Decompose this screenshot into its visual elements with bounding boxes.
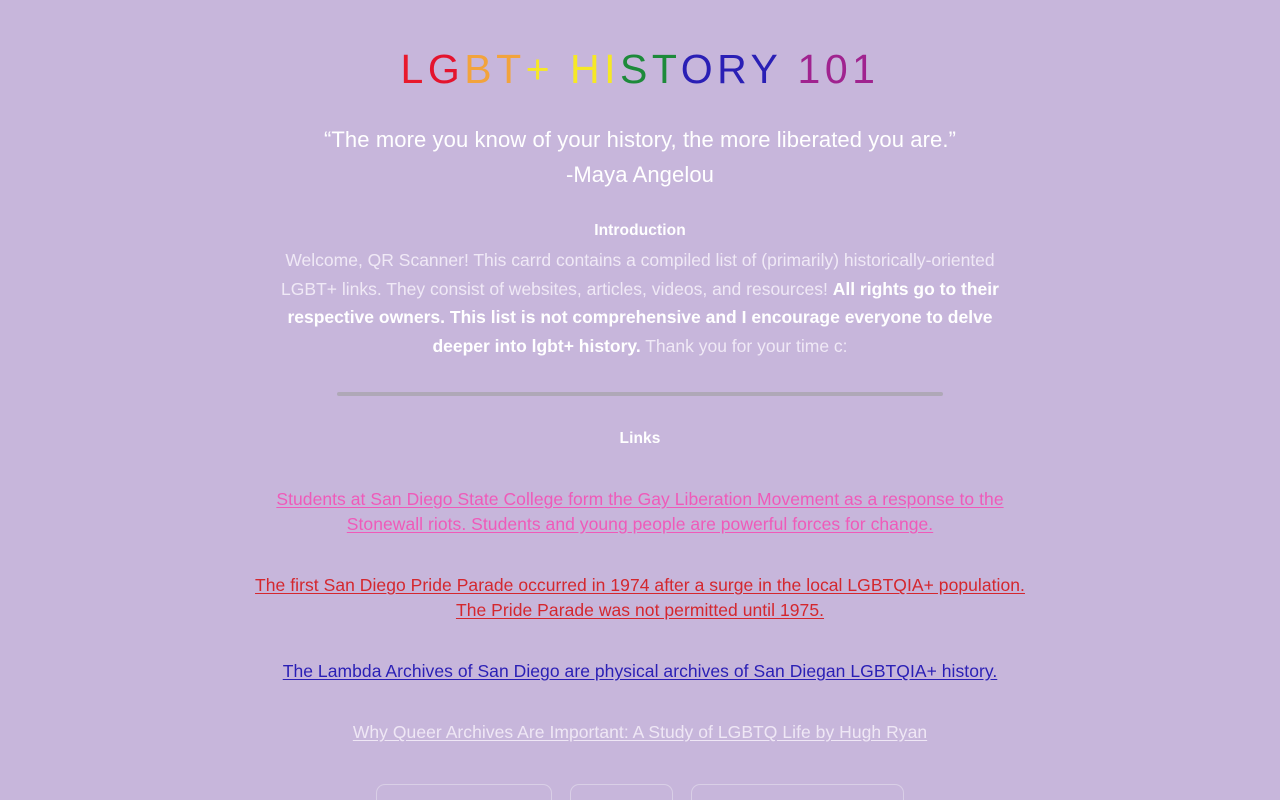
- introduction-paragraph: Welcome, QR Scanner! This carrd contains…: [260, 246, 1020, 360]
- links-heading: Links: [620, 430, 661, 448]
- hero-quote: “The more you know of your history, the …: [324, 122, 956, 192]
- title-letter-5: [554, 46, 570, 92]
- quote-attribution: -Maya Angelou: [324, 157, 956, 192]
- title-letter-13: [782, 46, 798, 92]
- title-letter-2: B: [464, 46, 496, 92]
- section-divider: [337, 392, 943, 396]
- title-letter-0: L: [401, 46, 428, 92]
- title-letter-6: H: [570, 46, 604, 92]
- title-letter-15: 0: [825, 46, 852, 92]
- quote-text: “The more you know of your history, the …: [324, 122, 956, 157]
- page-title: LGBT+ HISTORY 101: [401, 0, 880, 93]
- title-letter-10: O: [681, 46, 717, 92]
- title-letter-8: S: [620, 46, 652, 92]
- page-root: LGBT+ HISTORY 101 “The more you know of …: [0, 0, 1280, 800]
- bottom-card-3[interactable]: [691, 784, 904, 800]
- list-item: Why Queer Archives Are Important: A Stud…: [240, 720, 1040, 745]
- title-letter-3: T: [496, 46, 526, 92]
- title-letter-9: T: [652, 46, 681, 92]
- title-letter-1: G: [428, 46, 464, 92]
- list-item: Students at San Diego State College form…: [240, 487, 1040, 537]
- link-gay-liberation-movement[interactable]: Students at San Diego State College form…: [276, 489, 1003, 534]
- title-letter-16: 1: [852, 46, 879, 92]
- introduction-heading: Introduction: [594, 222, 686, 240]
- intro-part-2: Thank you for your time c:: [641, 336, 848, 356]
- title-letter-7: I: [604, 46, 620, 92]
- bottom-card-1[interactable]: [376, 784, 552, 800]
- list-item: The first San Diego Pride Parade occurre…: [240, 573, 1040, 623]
- links-list: Students at San Diego State College form…: [240, 448, 1040, 745]
- title-letter-11: R: [717, 46, 750, 92]
- link-lambda-archives[interactable]: The Lambda Archives of San Diego are phy…: [283, 661, 998, 681]
- link-san-diego-pride-parade[interactable]: The first San Diego Pride Parade occurre…: [255, 575, 1025, 620]
- title-letter-12: Y: [751, 46, 782, 92]
- link-why-queer-archives[interactable]: Why Queer Archives Are Important: A Stud…: [353, 722, 927, 742]
- title-letter-14: 1: [798, 46, 825, 92]
- bottom-card-2[interactable]: [570, 784, 673, 800]
- bottom-card-row: [0, 784, 1280, 800]
- title-letter-4: +: [526, 46, 554, 92]
- list-item: The Lambda Archives of San Diego are phy…: [240, 659, 1040, 684]
